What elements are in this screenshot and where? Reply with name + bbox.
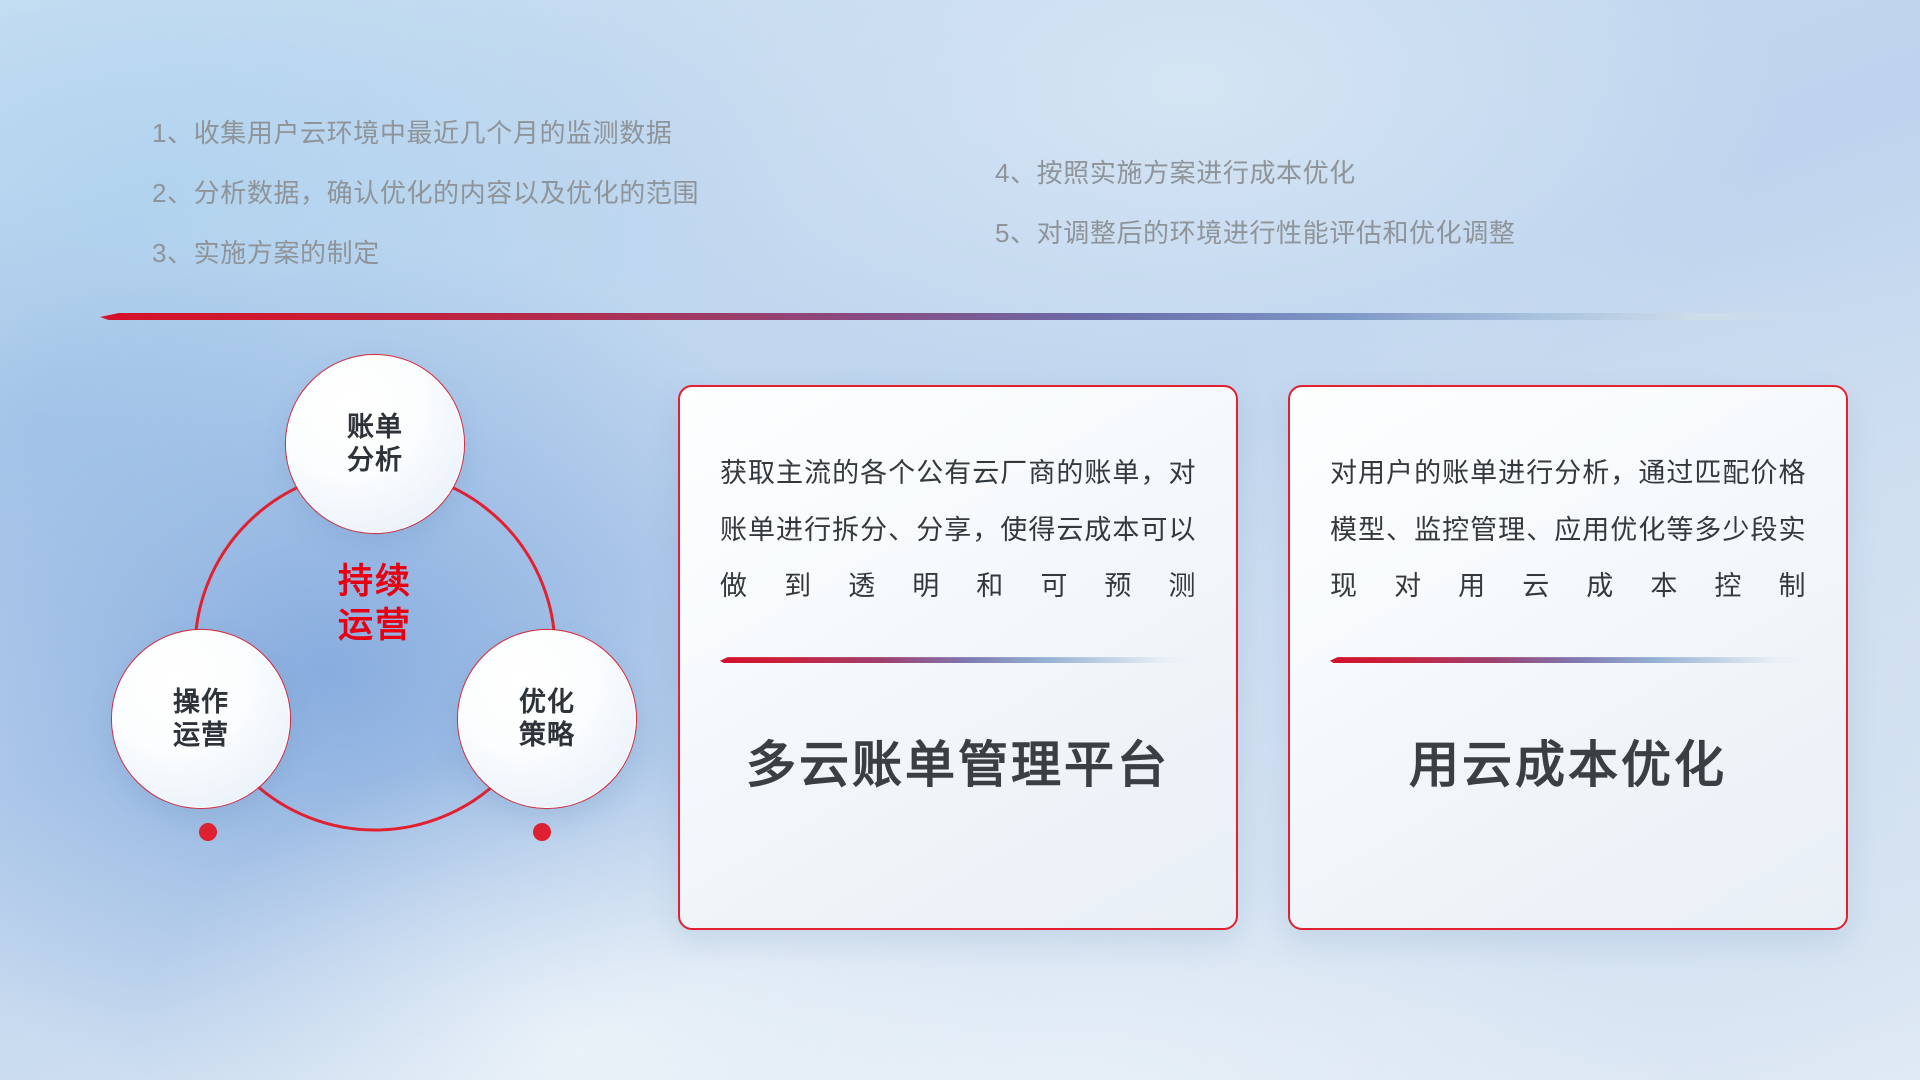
diagram-center-label: 持续 运营 (286, 560, 464, 648)
continuous-operations-diagram: 账单 分析 操作 运营 优化 策略 持续 运营 (100, 355, 660, 955)
feature-card-multicloud-billing-title: 多云账单管理平台 (720, 725, 1196, 797)
bubble-optimization-strategy-line2: 策略 (519, 719, 575, 752)
bubble-operations-line2: 运营 (173, 719, 229, 752)
step-item-1: 1、收集用户云环境中最近几个月的监测数据 (152, 120, 699, 146)
section-divider-rule (100, 313, 1820, 320)
node-dot-right (533, 823, 551, 841)
bubble-operations[interactable]: 操作 运营 (112, 630, 290, 808)
bubble-operations-line1: 操作 (173, 686, 229, 719)
bubble-optimization-strategy[interactable]: 优化 策略 (458, 630, 636, 808)
feature-card-divider (1330, 657, 1806, 663)
feature-card-divider (720, 657, 1196, 663)
center-label-line2: 运营 (286, 604, 464, 648)
bubble-bill-analysis-line2: 分析 (347, 444, 403, 477)
feature-card-multicloud-billing-body: 获取主流的各个公有云厂商的账单，对账单进行拆分、分享，使得云成本可以做到透明和可… (720, 445, 1196, 615)
feature-card-multicloud-billing[interactable]: 获取主流的各个公有云厂商的账单，对账单进行拆分、分享，使得云成本可以做到透明和可… (678, 385, 1238, 930)
step-item-2: 2、分析数据，确认优化的内容以及优化的范围 (152, 180, 699, 206)
feature-card-cloud-cost-optimization-title: 用云成本优化 (1330, 725, 1806, 797)
bubble-bill-analysis[interactable]: 账单 分析 (286, 355, 464, 533)
feature-card-cloud-cost-optimization[interactable]: 对用户的账单进行分析，通过匹配价格模型、监控管理、应用优化等多少段实现对用云成本… (1288, 385, 1848, 930)
bubble-bill-analysis-line1: 账单 (347, 411, 403, 444)
step-item-5: 5、对调整后的环境进行性能评估和优化调整 (995, 220, 1515, 246)
step-item-4: 4、按照实施方案进行成本优化 (995, 160, 1515, 186)
feature-card-cloud-cost-optimization-body: 对用户的账单进行分析，通过匹配价格模型、监控管理、应用优化等多少段实现对用云成本… (1330, 445, 1806, 615)
steps-right-column: 4、按照实施方案进行成本优化 5、对调整后的环境进行性能评估和优化调整 (995, 160, 1515, 246)
node-dot-left (199, 823, 217, 841)
bubble-optimization-strategy-line1: 优化 (519, 686, 575, 719)
center-label-line1: 持续 (286, 560, 464, 604)
step-item-3: 3、实施方案的制定 (152, 240, 699, 266)
steps-left-column: 1、收集用户云环境中最近几个月的监测数据 2、分析数据，确认优化的内容以及优化的… (152, 120, 699, 266)
